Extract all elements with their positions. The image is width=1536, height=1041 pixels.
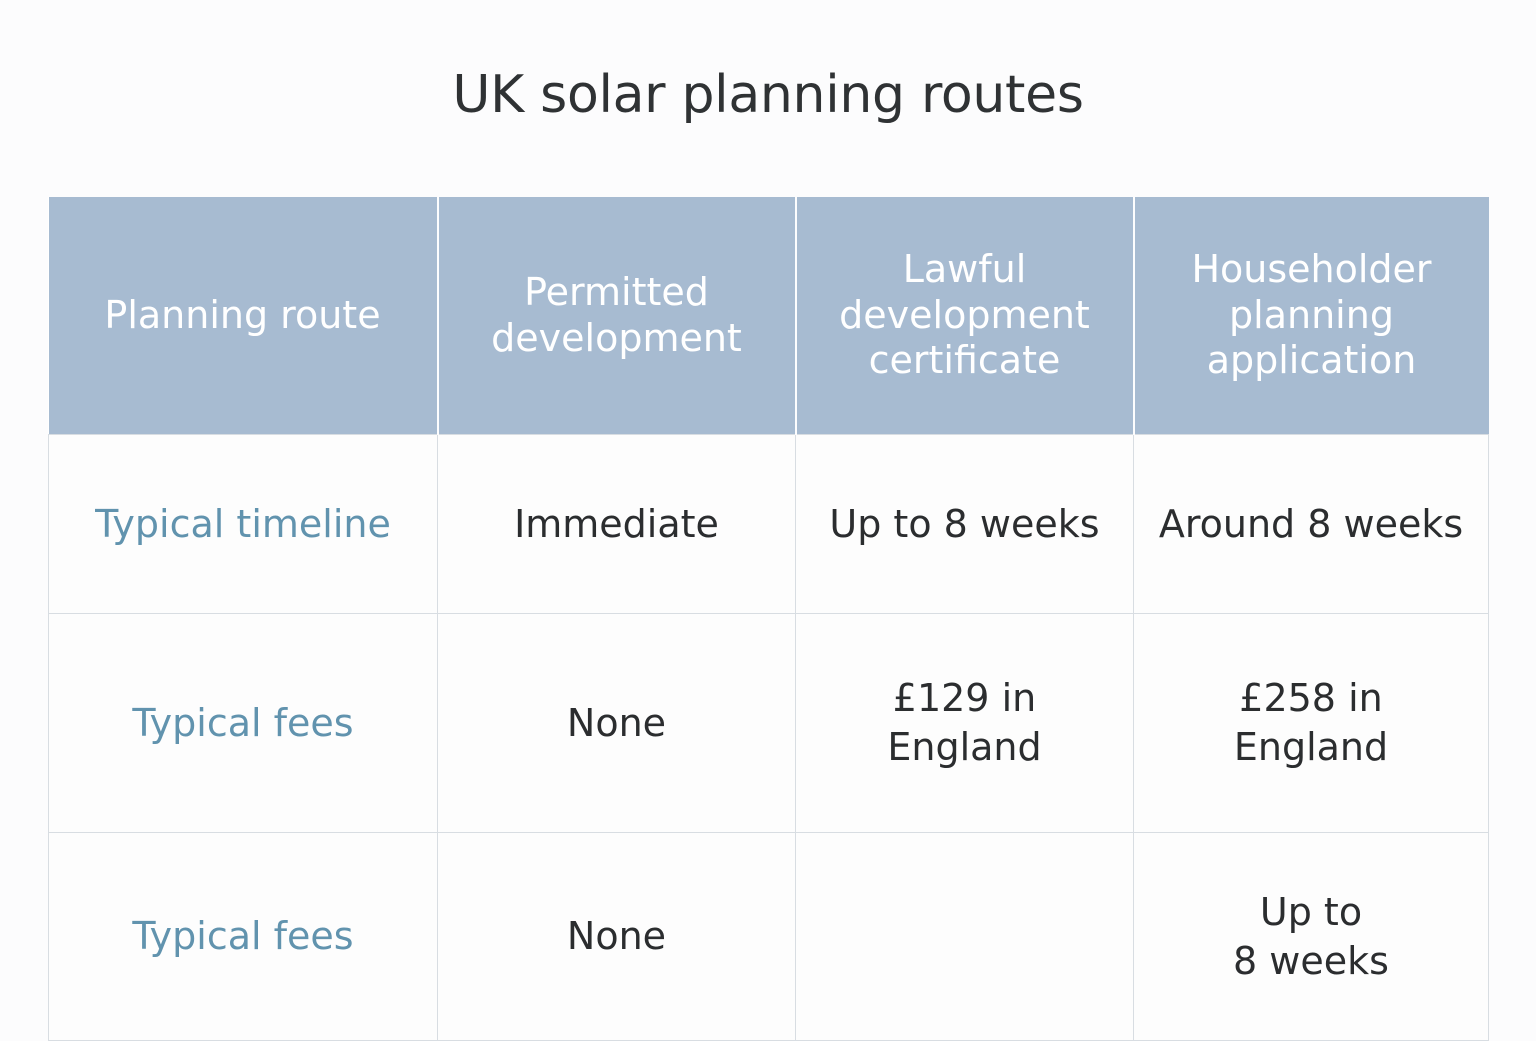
page-title: UK solar planning routes: [0, 68, 1536, 123]
column-header-line: Planning route: [63, 293, 423, 339]
column-header-line: development: [453, 316, 781, 362]
column-header-line: planning: [1149, 293, 1475, 339]
column-header-line: certificate: [811, 338, 1119, 384]
cell-line: England: [1150, 723, 1472, 772]
table-body: Typical timeline Immediate Up to 8 weeks…: [49, 435, 1489, 1041]
cell-line: Up to: [1150, 888, 1472, 937]
row-label-typical-timeline: Typical timeline: [49, 435, 438, 614]
planning-routes-table: Planning route Permitteddevelopment Lawf…: [48, 197, 1489, 1041]
row-label-text: Typical fees: [65, 912, 421, 961]
cell-line: Immediate: [454, 500, 779, 549]
cell-fees1-lawful-development-certificate: £129 inEngland: [796, 614, 1134, 833]
table-row: Typical timeline Immediate Up to 8 weeks…: [49, 435, 1489, 614]
table-row: Typical fees None Up to8 weeks: [49, 833, 1489, 1041]
table-row: Typical fees None £129 inEngland £258 in…: [49, 614, 1489, 833]
cell-line: £258 in: [1150, 674, 1472, 723]
cell-timeline-lawful-development-certificate: Up to 8 weeks: [796, 435, 1134, 614]
row-label-text: Typical fees: [65, 699, 421, 748]
page-canvas: UK solar planning routes Planning route …: [0, 0, 1536, 1024]
cell-line: England: [812, 723, 1117, 772]
column-header-line: Lawful: [811, 247, 1119, 293]
cell-fees1-permitted-development: None: [438, 614, 796, 833]
row-label-text: Typical timeline: [65, 500, 421, 549]
column-header-line: Householder: [1149, 247, 1475, 293]
cell-fees2-permitted-development: None: [438, 833, 796, 1041]
cell-line: 8 weeks: [1150, 937, 1472, 986]
row-label-typical-fees-1: Typical fees: [49, 614, 438, 833]
cell-timeline-permitted-development: Immediate: [438, 435, 796, 614]
table-header: Planning route Permitteddevelopment Lawf…: [49, 197, 1489, 435]
table-header-row: Planning route Permitteddevelopment Lawf…: [49, 197, 1489, 435]
column-header-householder-planning-application: Householderplanningapplication: [1134, 197, 1489, 435]
cell-fees2-lawful-development-certificate: [796, 833, 1134, 1041]
column-header-lawful-development-certificate: Lawfuldevelopmentcertificate: [796, 197, 1134, 435]
column-header-permitted-development: Permitteddevelopment: [438, 197, 796, 435]
cell-line: £129 in: [812, 674, 1117, 723]
cell-line: None: [454, 912, 779, 961]
cell-timeline-householder-planning-application: Around 8 weeks: [1134, 435, 1489, 614]
column-header-line: application: [1149, 338, 1475, 384]
column-header-line: development: [811, 293, 1119, 339]
cell-fees1-householder-planning-application: £258 inEngland: [1134, 614, 1489, 833]
column-header-line: Permitted: [453, 270, 781, 316]
cell-empty-placeholder: [812, 936, 1117, 937]
cell-line: None: [454, 699, 779, 748]
column-header-planning-route: Planning route: [49, 197, 438, 435]
cell-line: Around 8 weeks: [1150, 500, 1472, 549]
cell-fees2-householder-planning-application: Up to8 weeks: [1134, 833, 1489, 1041]
row-label-typical-fees-2: Typical fees: [49, 833, 438, 1041]
planning-routes-table-wrapper: Planning route Permitteddevelopment Lawf…: [48, 197, 1488, 1041]
cell-line: Up to 8 weeks: [812, 500, 1117, 549]
